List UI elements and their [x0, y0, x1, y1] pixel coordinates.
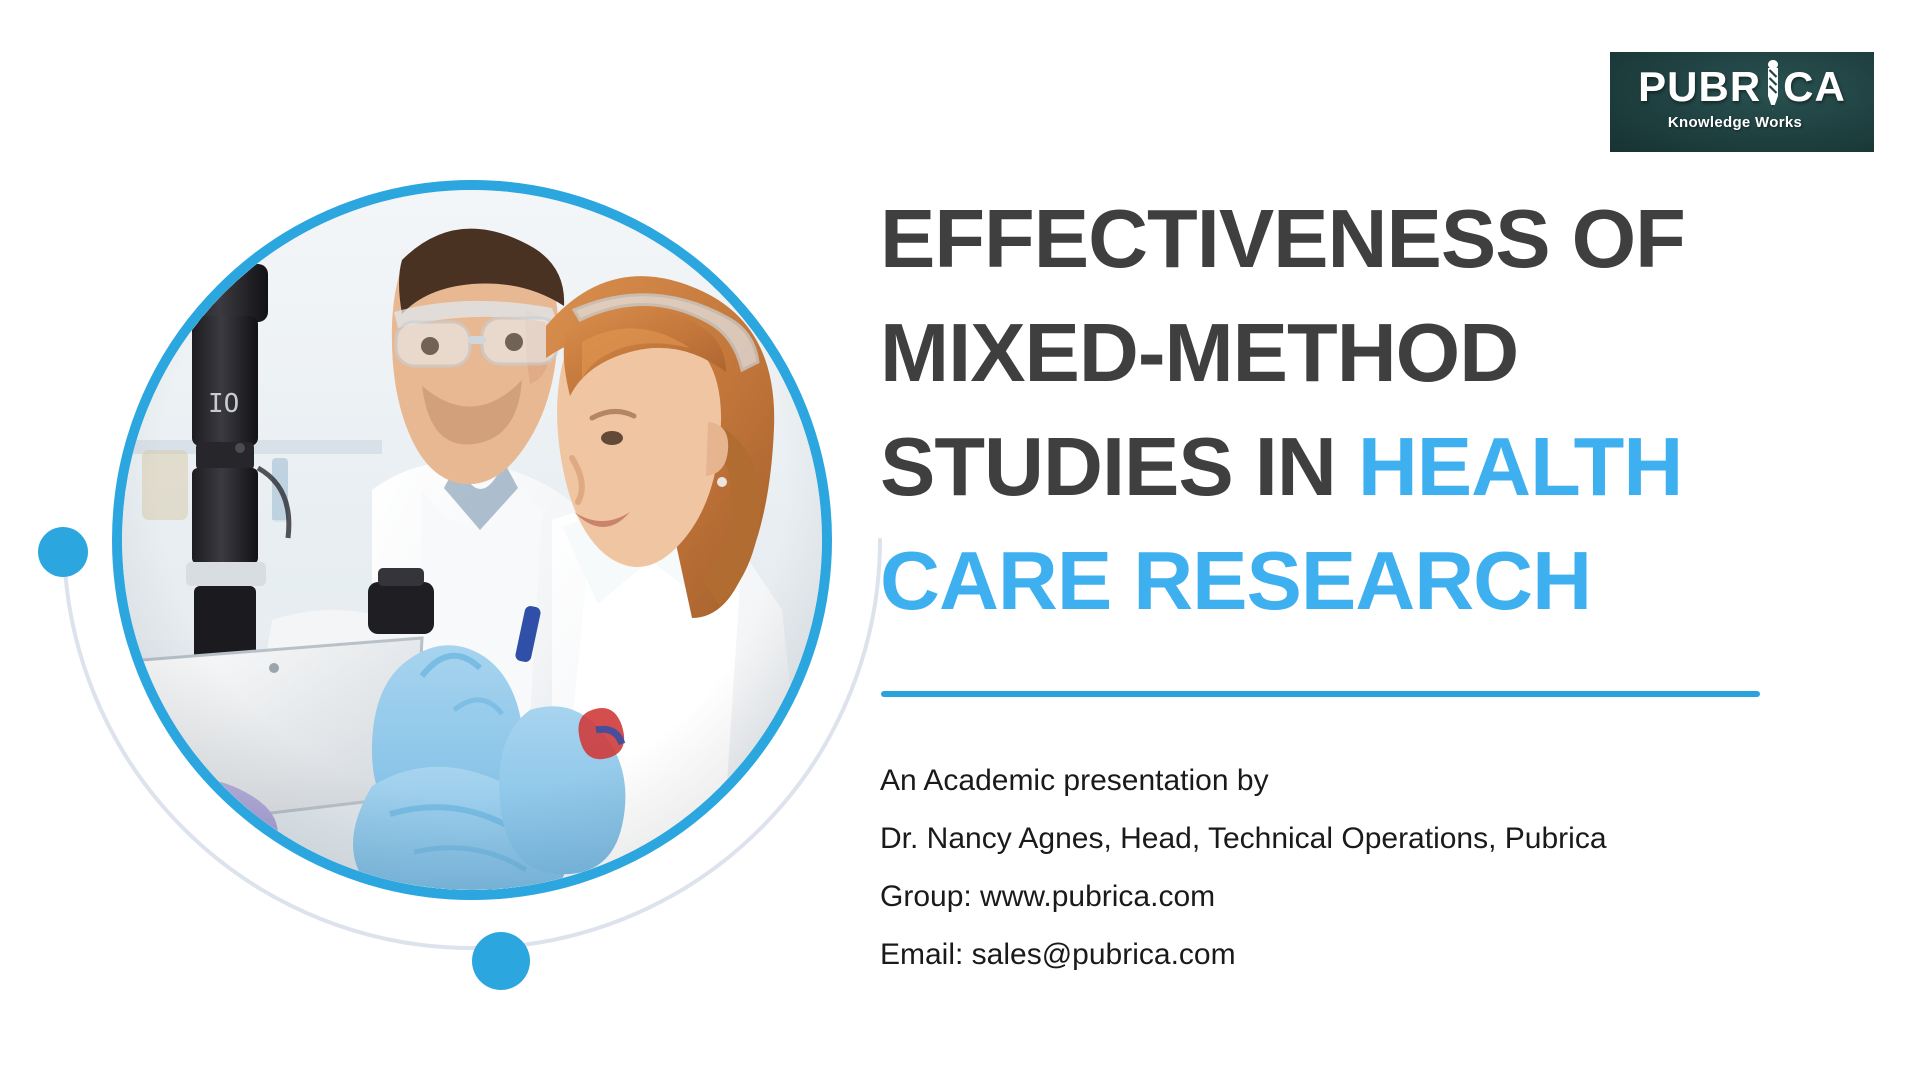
- pubrica-logo[interactable]: PUBRCA Knowledge Works: [1610, 52, 1874, 152]
- logo-wordmark: PUBRCA: [1610, 66, 1874, 108]
- title-line-3-highlight: HEALTH: [1358, 420, 1682, 513]
- title-divider: [881, 691, 1760, 697]
- accent-dot-bottom: [472, 932, 530, 990]
- title-line-3-plain: STUDIES IN: [880, 420, 1358, 513]
- pencil-icon: [1762, 60, 1784, 110]
- hero-photo: IO: [122, 190, 822, 890]
- logo-tagline: Knowledge Works: [1610, 114, 1860, 131]
- presenter-info: An Academic presentation by Dr. Nancy Ag…: [880, 752, 1830, 984]
- logo-wordmark-after: CA: [1783, 63, 1846, 110]
- hero-photo-circle: IO: [112, 180, 832, 900]
- logo-wordmark-before: PUBR: [1638, 63, 1761, 110]
- presenter-line: Email: sales@pubrica.com: [880, 926, 1830, 984]
- presenter-line: Dr. Nancy Agnes, Head, Technical Operati…: [880, 810, 1830, 868]
- title-line-1: EFFECTIVENESS OF: [880, 192, 1685, 285]
- title-slide: IO: [0, 0, 1920, 1080]
- page-title: EFFECTIVENESS OF MIXED-METHOD STUDIES IN…: [880, 182, 1780, 638]
- title-line-2: MIXED-METHOD: [880, 306, 1518, 399]
- presenter-line: Group: www.pubrica.com: [880, 868, 1830, 926]
- presenter-line: An Academic presentation by: [880, 752, 1830, 810]
- title-block: EFFECTIVENESS OF MIXED-METHOD STUDIES IN…: [880, 182, 1780, 638]
- accent-dot-left: [38, 527, 88, 577]
- title-line-4-highlight: CARE RESEARCH: [880, 534, 1591, 627]
